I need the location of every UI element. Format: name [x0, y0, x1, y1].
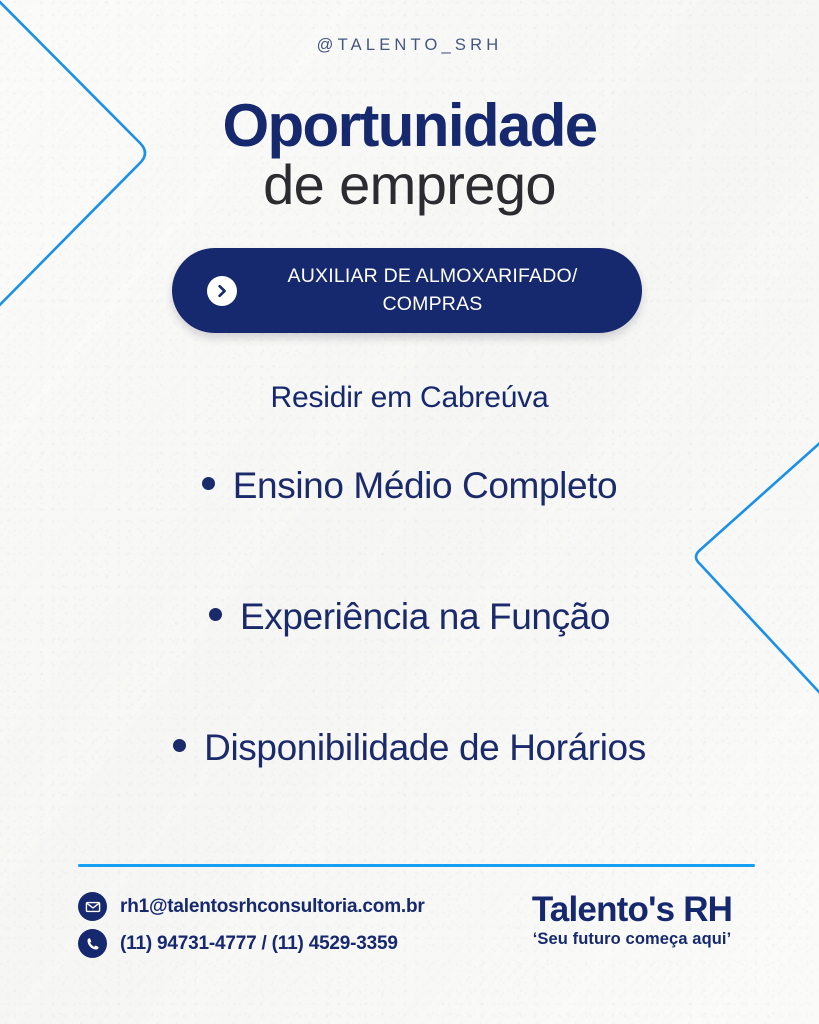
email-value: rh1@talentosrhconsultoria.com.br [120, 896, 425, 918]
chevron-right-icon [207, 276, 237, 306]
page-title-secondary: de emprego [0, 157, 819, 213]
requirement-label: Ensino Médio Completo [233, 467, 617, 504]
bullet-dot-icon [209, 608, 222, 621]
envelope-icon [78, 892, 107, 921]
page-title-primary: Oportunidade [0, 96, 819, 156]
contact-list: rh1@talentosrhconsultoria.com.br (11) 94… [78, 888, 425, 962]
contact-phone-row[interactable]: (11) 94731-4777 / (11) 4529-3359 [78, 925, 425, 962]
footer-divider [78, 864, 755, 867]
instagram-handle: @TALENTO_SRH [0, 36, 819, 55]
company-tagline: ‘Seu futuro começa aqui’ [507, 930, 757, 949]
footer: rh1@talentosrhconsultoria.com.br (11) 94… [0, 888, 819, 968]
contact-email-row[interactable]: rh1@talentosrhconsultoria.com.br [78, 888, 425, 925]
bullet-dot-icon [173, 739, 186, 752]
list-item: Experiência na Função [0, 598, 819, 729]
phone-value: (11) 94731-4777 / (11) 4529-3359 [120, 933, 398, 955]
list-item: Disponibilidade de Horários [0, 729, 819, 860]
requirement-label: Experiência na Função [240, 598, 610, 635]
location-requirement: Residir em Cabreúva [0, 381, 819, 415]
company-logo: Talento's RH ‘Seu futuro começa aqui’ [507, 892, 757, 949]
phone-icon [78, 929, 107, 958]
role-badge-label: AUXILIAR DE ALMOXARIFADO/ COMPRAS [249, 263, 626, 318]
role-badge[interactable]: AUXILIAR DE ALMOXARIFADO/ COMPRAS [172, 248, 642, 333]
company-name: Talento's RH [507, 892, 757, 929]
requirements-list: Ensino Médio Completo Experiência na Fun… [0, 467, 819, 860]
job-posting-poster: @TALENTO_SRH Oportunidade de emprego AUX… [0, 0, 819, 1024]
list-item: Ensino Médio Completo [0, 467, 819, 598]
bullet-dot-icon [202, 477, 215, 490]
requirement-label: Disponibilidade de Horários [204, 729, 646, 766]
